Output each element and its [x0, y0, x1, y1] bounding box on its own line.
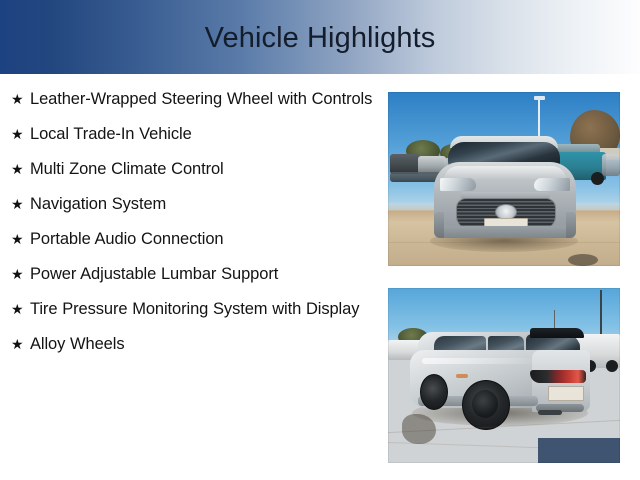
bumper-corner-right: [566, 212, 576, 238]
list-item: ★ Leather-Wrapped Steering Wheel with Co…: [0, 88, 378, 110]
bumper-corner-left: [434, 212, 444, 238]
star-icon: ★: [11, 333, 30, 355]
list-item: ★ Navigation System: [0, 193, 378, 215]
list-item-label: Multi Zone Climate Control: [30, 158, 374, 180]
headlight-left: [440, 178, 476, 191]
star-icon: ★: [11, 158, 30, 180]
vehicle-highlights-list: ★ Leather-Wrapped Steering Wheel with Co…: [0, 74, 378, 368]
list-item-label: Local Trade-In Vehicle: [30, 123, 374, 145]
list-item-label: Leather-Wrapped Steering Wheel with Cont…: [30, 88, 374, 110]
header-banner: Vehicle Highlights: [0, 0, 640, 74]
star-icon: ★: [11, 123, 30, 145]
star-icon: ★: [11, 193, 30, 215]
wheel-rear-hub: [472, 390, 498, 418]
front-bumper: [440, 226, 570, 238]
photo-scene-front: [388, 92, 620, 266]
side-marker: [456, 374, 468, 378]
list-item: ★ Multi Zone Climate Control: [0, 158, 378, 180]
wheel: [606, 360, 618, 372]
exhaust-trim: [538, 410, 562, 415]
foreground-shadow: [402, 414, 436, 444]
list-item-label: Power Adjustable Lumbar Support: [30, 263, 374, 285]
star-icon: ★: [11, 228, 30, 250]
license-plate: [548, 386, 584, 401]
vehicle-photo-rear[interactable]: [388, 288, 620, 463]
star-icon: ★: [11, 88, 30, 110]
list-item: ★ Tire Pressure Monitoring System with D…: [0, 298, 378, 320]
ground-seam: [388, 242, 620, 243]
list-item-label: Tire Pressure Monitoring System with Dis…: [30, 298, 374, 320]
content-area: ★ Leather-Wrapped Steering Wheel with Co…: [0, 74, 640, 480]
list-item-label: Navigation System: [30, 193, 374, 215]
vehicle-photo-front[interactable]: [388, 92, 620, 266]
background-vehicle: [602, 154, 620, 176]
headlight-right: [534, 178, 570, 191]
star-icon: ★: [11, 298, 30, 320]
foreground-shadow: [568, 254, 598, 266]
taillight: [530, 370, 586, 383]
list-item: ★ Local Trade-In Vehicle: [0, 123, 378, 145]
photo-scene-rear: [388, 288, 620, 463]
list-item: ★ Portable Audio Connection: [0, 228, 378, 250]
page-title: Vehicle Highlights: [205, 24, 436, 53]
list-item-label: Alloy Wheels: [30, 333, 374, 355]
list-item: ★ Alloy Wheels: [0, 333, 378, 355]
list-item-label: Portable Audio Connection: [30, 228, 374, 250]
star-icon: ★: [11, 263, 30, 285]
light-pole-head: [534, 96, 545, 100]
roof-spoiler: [530, 328, 584, 338]
list-item: ★ Power Adjustable Lumbar Support: [0, 263, 378, 285]
wheel-front: [420, 374, 448, 410]
body-highlight: [422, 358, 532, 364]
background-vehicle: [390, 154, 420, 174]
foreground-asphalt: [538, 438, 620, 463]
